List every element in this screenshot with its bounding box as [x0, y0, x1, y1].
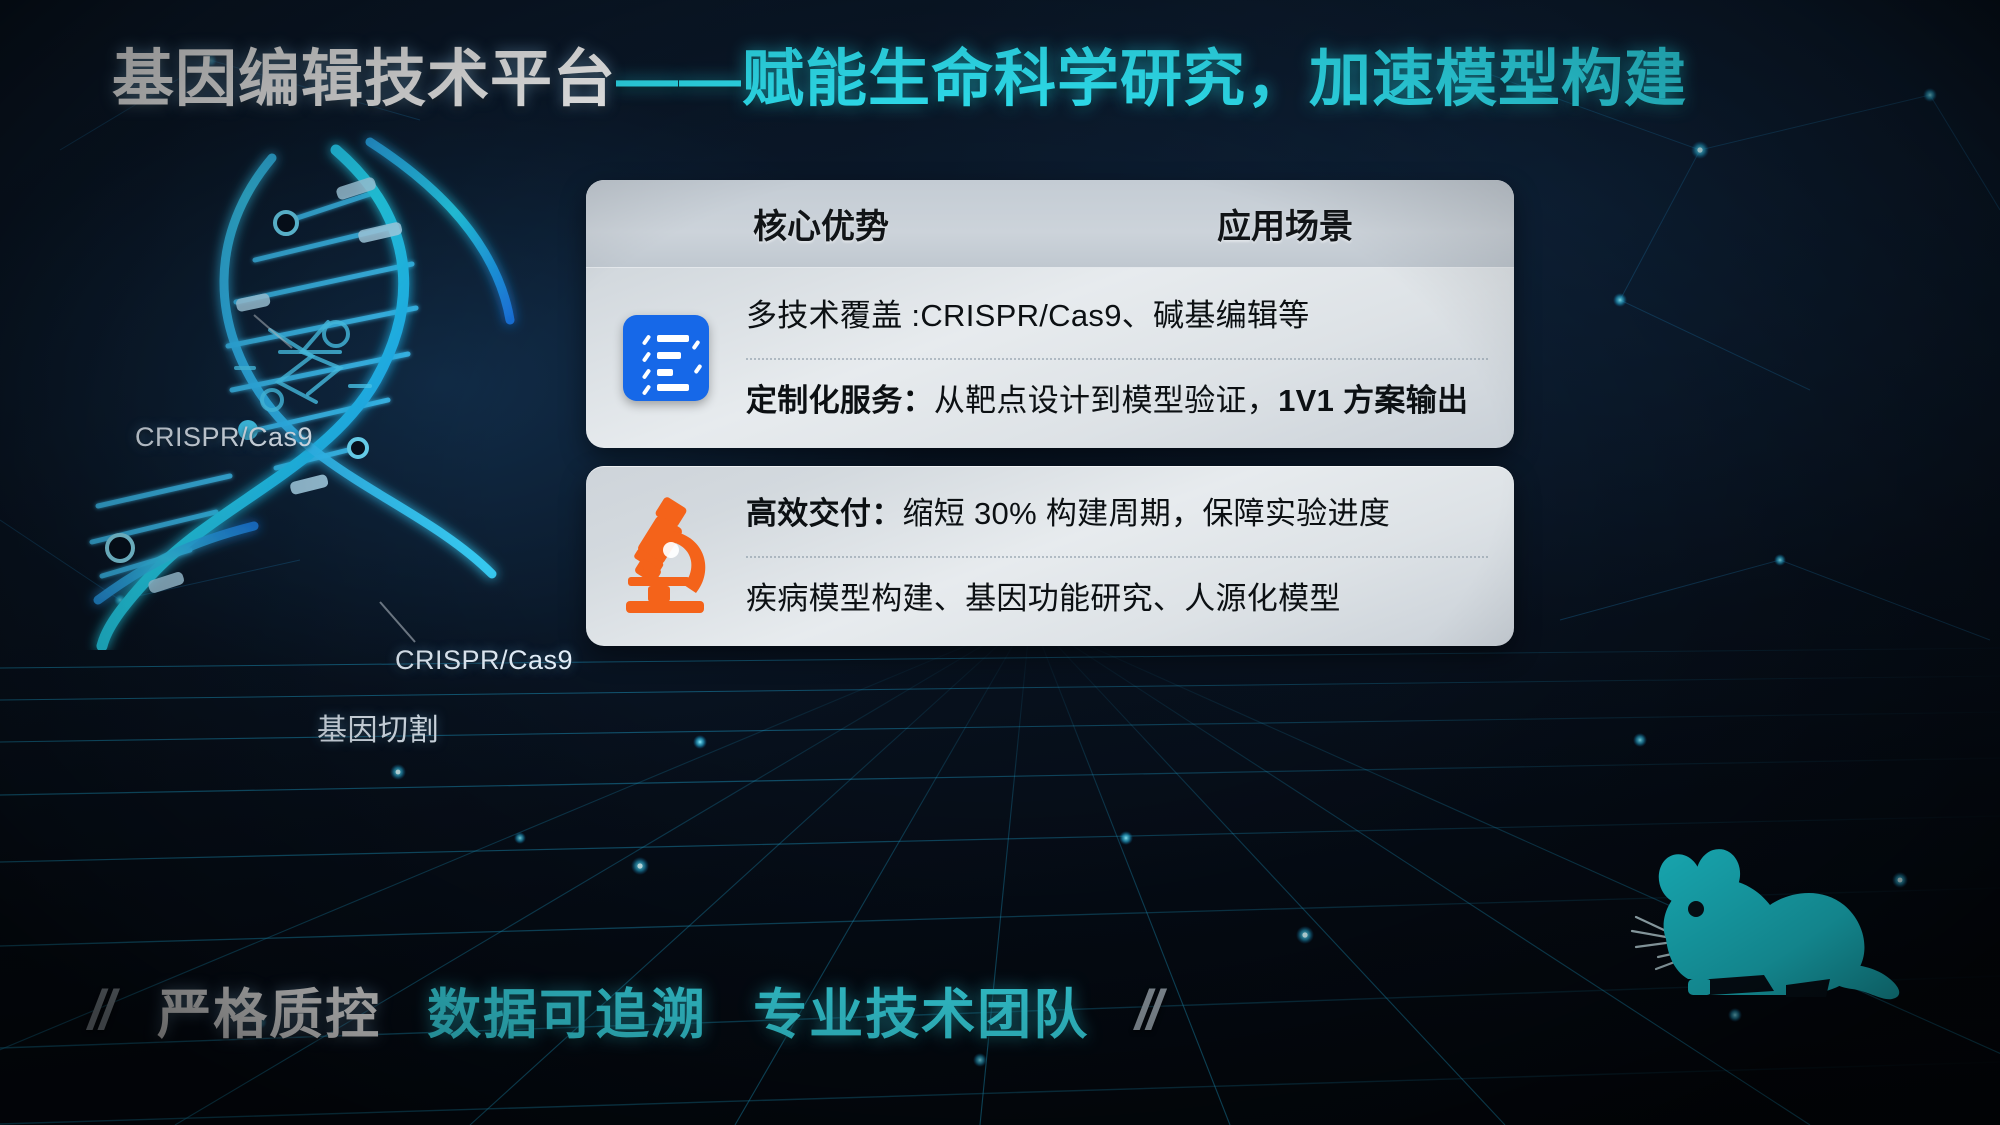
- row-text: 疾病模型构建、基因功能研究、人源化模型: [746, 579, 1341, 619]
- card-body: 多技术覆盖 :CRISPR/Cas9、碱基编辑等 定制化服务：从靶点设计到模型验…: [586, 268, 1514, 448]
- card-row: 多技术覆盖 :CRISPR/Cas9、碱基编辑等: [746, 274, 1488, 358]
- label-gene-cut: 基因切割: [317, 705, 439, 749]
- microscope-icon: [614, 497, 718, 615]
- title-primary: 基因编辑技术平台: [112, 45, 616, 114]
- row-text-bold-suffix: 1V1 方案输出: [1278, 381, 1468, 421]
- slash-left-icon: //: [88, 977, 111, 1042]
- header-application-scenario: 应用场景: [1056, 199, 1514, 248]
- tagline-data-traceable: 数据可追溯: [427, 970, 707, 1049]
- card-row: 高效交付： 缩短 30% 构建周期，保障实验进度: [746, 472, 1488, 556]
- slash-right-icon: //: [1135, 977, 1158, 1042]
- tagline-quality-control: 严格质控: [157, 970, 381, 1049]
- footer-taglines: // 严格质控 数据可追溯 专业技术团队 //: [88, 970, 1158, 1049]
- info-cards: 核心优势 应用场景 多技术覆盖 :CRISPR/Cas9、碱基编辑等: [586, 180, 1514, 646]
- card-row: 疾病模型构建、基因功能研究、人源化模型: [746, 556, 1488, 640]
- dna-helix-graphic: [40, 130, 660, 650]
- card-application: 高效交付： 缩短 30% 构建周期，保障实验进度 疾病模型构建、基因功能研究、人…: [586, 466, 1514, 646]
- rows-column: 多技术覆盖 :CRISPR/Cas9、碱基编辑等 定制化服务：从靶点设计到模型验…: [746, 274, 1514, 442]
- row-text: 从靶点设计到模型验证，: [934, 381, 1278, 421]
- title-secondary: ——赋能生命科学研究，加速模型构建: [616, 45, 1687, 114]
- mouse-illustration: [1614, 839, 1934, 1059]
- document-list-icon: [623, 315, 709, 401]
- slide-canvas: 基因编辑技术平台——赋能生命科学研究，加速模型构建: [0, 0, 2000, 1125]
- rows-column: 高效交付： 缩短 30% 构建周期，保障实验进度 疾病模型构建、基因功能研究、人…: [746, 472, 1514, 640]
- row-text-bold-prefix: 高效交付：: [746, 494, 903, 534]
- row-text: 多技术覆盖 :CRISPR/Cas9、碱基编辑等: [746, 296, 1310, 336]
- icon-column: [586, 472, 746, 640]
- label-crispr-top: CRISPR/Cas9: [135, 422, 313, 453]
- card-row: 定制化服务：从靶点设计到模型验证，1V1 方案输出: [746, 358, 1488, 442]
- card-body: 高效交付： 缩短 30% 构建周期，保障实验进度 疾病模型构建、基因功能研究、人…: [586, 466, 1514, 646]
- card-header-row: 核心优势 应用场景: [586, 180, 1514, 268]
- page-title: 基因编辑技术平台——赋能生命科学研究，加速模型构建: [112, 44, 1687, 115]
- dna-illustration: CRISPR/Cas9 CRISPR/Cas9 基因切割: [40, 130, 660, 650]
- label-crispr-bottom: CRISPR/Cas9: [395, 645, 573, 676]
- mouse-icon: [1614, 839, 1934, 1059]
- header-core-advantage: 核心优势: [586, 199, 1056, 248]
- row-text: 缩短 30% 构建周期，保障实验进度: [903, 494, 1391, 534]
- tagline-professional-team: 专业技术团队: [753, 970, 1089, 1049]
- icon-column: [586, 274, 746, 442]
- card-core-advantage: 核心优势 应用场景 多技术覆盖 :CRISPR/Cas9、碱基编辑等: [586, 180, 1514, 448]
- row-text-bold-prefix: 定制化服务：: [746, 381, 934, 421]
